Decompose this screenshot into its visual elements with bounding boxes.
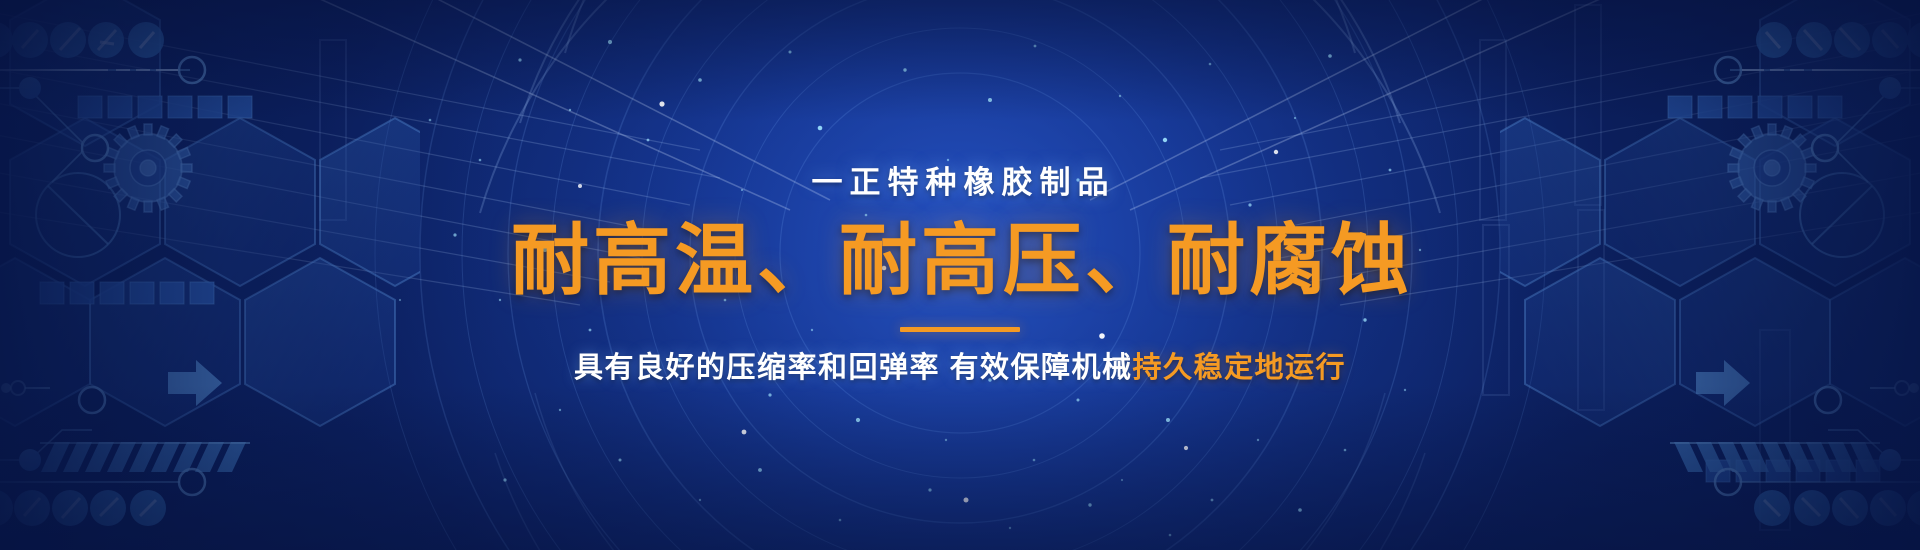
orange-divider bbox=[900, 327, 1020, 332]
hero-banner: 一正特种橡胶制品 耐高温、耐高压、耐腐蚀 具有良好的压缩率和回弹率 有效保障机械… bbox=[0, 0, 1920, 550]
banner-subtitle: 具有良好的压缩率和回弹率 有效保障机械持久稳定地运行 bbox=[574, 354, 1346, 383]
banner-subtitle-orange: 持久稳定地运行 bbox=[1133, 352, 1347, 384]
banner-headline: 耐高温、耐高压、耐腐蚀 bbox=[507, 220, 1413, 302]
banner-content: 一正特种橡胶制品 耐高温、耐高压、耐腐蚀 具有良好的压缩率和回弹率 有效保障机械… bbox=[0, 0, 1920, 550]
banner-subtitle-white: 具有良好的压缩率和回弹率 有效保障机械 bbox=[574, 352, 1133, 384]
banner-eyebrow: 一正特种橡胶制品 bbox=[805, 167, 1116, 198]
